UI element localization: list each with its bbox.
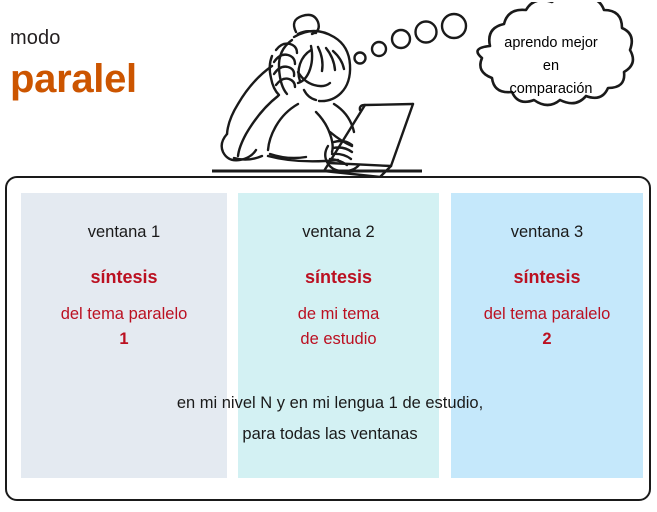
detail-main-2: de mi tema (298, 305, 380, 323)
detail-text-2: de mi tema de estudio (238, 302, 439, 352)
caption-line-2: para todas las ventanas (7, 419, 653, 450)
detail-emph-1: 1 (21, 327, 227, 352)
mode-word-label: modo (10, 26, 230, 50)
panel-caption: en mi nivel N y en mi lengua 1 de estudi… (7, 388, 653, 450)
detail-main-1: del tema paralelo (61, 305, 188, 323)
title-block: modo paralel (10, 26, 230, 102)
synthesis-label-2: síntesis (238, 266, 439, 288)
parallel-mode-panel: ventana 1 síntesis del tema paralelo 1 v… (5, 176, 651, 501)
detail-text-1: del tema paralelo 1 (21, 302, 227, 352)
windows-columns: ventana 1 síntesis del tema paralelo 1 v… (7, 178, 649, 499)
detail-text-3: del tema paralelo 2 (451, 302, 643, 352)
thought-line-2: en (470, 55, 632, 78)
caption-line-1: en mi nivel N y en mi lengua 1 de estudi… (7, 388, 653, 419)
detail-emph-3: 2 (451, 327, 643, 352)
thought-bubble-text: aprendo mejor en comparación (470, 32, 632, 101)
synthesis-label-3: síntesis (451, 266, 643, 288)
window-label-3: ventana 3 (451, 222, 643, 242)
thought-line-3: comparación (470, 78, 632, 101)
header-area: modo paralel (0, 0, 657, 178)
window-label-1: ventana 1 (21, 222, 227, 242)
synthesis-label-1: síntesis (21, 266, 227, 288)
detail-emph-2: de estudio (238, 327, 439, 352)
page-title: paralel (10, 56, 230, 102)
thought-line-1: aprendo mejor (470, 32, 632, 55)
detail-main-3: del tema paralelo (484, 305, 611, 323)
window-label-2: ventana 2 (238, 222, 439, 242)
